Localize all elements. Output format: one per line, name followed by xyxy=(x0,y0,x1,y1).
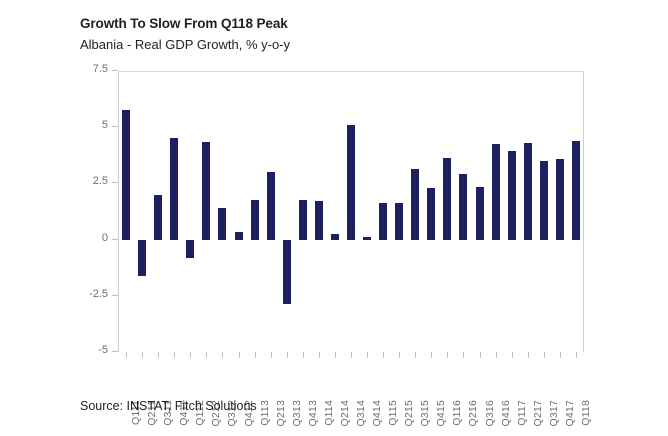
bar xyxy=(363,237,371,239)
bar xyxy=(411,169,419,240)
plot-area xyxy=(118,71,584,352)
bar xyxy=(138,240,146,276)
x-axis-label: Q117 xyxy=(516,400,528,426)
bar xyxy=(235,232,243,240)
x-axis-label: Q115 xyxy=(387,400,399,426)
bar xyxy=(443,158,451,240)
bar xyxy=(540,161,548,240)
bar xyxy=(331,234,339,240)
bar xyxy=(202,142,210,240)
x-axis-label: Q314 xyxy=(355,400,367,427)
chart-title: Growth To Slow From Q118 Peak xyxy=(80,16,620,31)
bar xyxy=(267,172,275,239)
source-note: Source: INSTAT, Fitch Solutions xyxy=(80,399,257,413)
bar xyxy=(556,159,564,240)
bar xyxy=(347,125,355,240)
chart-page: Growth To Slow From Q118 Peak Albania - … xyxy=(0,0,668,436)
bar xyxy=(379,203,387,240)
chart-header: Growth To Slow From Q118 Peak Albania - … xyxy=(80,16,620,52)
chart-subtitle: Albania - Real GDP Growth, % y-o-y xyxy=(80,37,620,52)
bar xyxy=(524,143,532,240)
y-tick-label: 7.5 xyxy=(93,63,108,75)
bar xyxy=(186,240,194,258)
bar-series xyxy=(118,71,584,352)
bar xyxy=(283,240,291,304)
x-axis-label: Q217 xyxy=(532,400,544,427)
bar xyxy=(154,195,162,240)
bar xyxy=(218,208,226,239)
x-axis-label: Q213 xyxy=(275,400,287,427)
bar xyxy=(572,141,580,240)
bar xyxy=(476,187,484,240)
bar xyxy=(170,138,178,239)
x-axis-label: Q316 xyxy=(484,400,496,427)
bar xyxy=(427,188,435,240)
x-axis-label: Q413 xyxy=(307,400,319,427)
bar xyxy=(299,200,307,239)
bar xyxy=(459,174,467,239)
x-axis-label: Q214 xyxy=(339,400,351,427)
x-axis-label: Q416 xyxy=(500,400,512,427)
x-axis-label: Q414 xyxy=(371,400,383,427)
x-axis-labels: Q111Q211Q311Q411Q112Q212Q312Q412Q113Q213… xyxy=(118,358,584,404)
x-axis-label: Q315 xyxy=(419,400,431,427)
bar xyxy=(122,110,130,239)
y-tick-label: 5 xyxy=(102,119,108,131)
bar xyxy=(395,203,403,240)
x-axis-label: Q417 xyxy=(564,400,576,427)
y-axis: 7.552.50-2.5-5 xyxy=(0,71,118,352)
x-axis-label: Q118 xyxy=(580,400,592,426)
x-axis-label: Q215 xyxy=(403,400,415,427)
bar xyxy=(251,200,259,239)
y-tick-label: -2.5 xyxy=(89,288,108,300)
x-axis-label: Q317 xyxy=(548,400,560,427)
bar xyxy=(492,144,500,240)
bar xyxy=(315,201,323,239)
x-axis-label: Q415 xyxy=(435,400,447,427)
y-tick-label: 2.5 xyxy=(93,175,108,187)
x-axis-label: Q113 xyxy=(259,400,271,426)
x-axis-label: Q313 xyxy=(291,400,303,427)
y-tick-label: -5 xyxy=(98,344,108,356)
bar xyxy=(508,151,516,240)
x-axis-label: Q216 xyxy=(467,400,479,427)
y-tick-label: 0 xyxy=(102,232,108,244)
x-axis-label: Q116 xyxy=(451,400,463,426)
x-axis-label: Q114 xyxy=(323,400,335,426)
